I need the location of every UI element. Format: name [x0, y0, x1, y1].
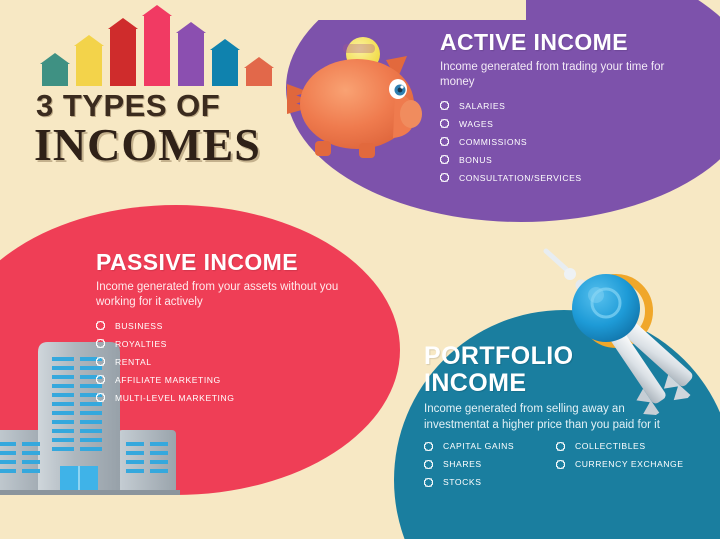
active-income-blob-clip	[286, 0, 526, 20]
list-item-label: BUSINESS	[115, 321, 163, 331]
list-item: ROYALTIES	[96, 339, 356, 349]
bar-orange	[246, 57, 272, 86]
portfolio-income-heading: PORTFOLIO INCOME	[424, 343, 684, 397]
cog-bullet-icon	[556, 442, 565, 451]
cog-bullet-icon	[424, 478, 433, 487]
bar-yellow	[76, 35, 102, 86]
portfolio-income-lists: CAPITAL GAINSSHARESSTOCKS COLLECTIBLESCU…	[424, 433, 684, 495]
cog-bullet-icon	[424, 460, 433, 469]
bar-chart-graphic	[42, 8, 290, 86]
list-item: BONUS	[440, 155, 690, 165]
list-item: STOCKS	[424, 477, 540, 487]
list-item: WAGES	[440, 119, 690, 129]
list-item-label: RENTAL	[115, 357, 152, 367]
list-item: AFFILIATE MARKETING	[96, 375, 356, 385]
passive-income-panel: PASSIVE INCOME Income generated from you…	[96, 250, 356, 411]
list-item-label: WAGES	[459, 119, 493, 129]
bar-purple	[178, 22, 204, 86]
list-item-label: CONSULTATION/SERVICES	[459, 173, 582, 183]
list-item-label: BONUS	[459, 155, 492, 165]
cog-bullet-icon	[96, 321, 105, 330]
list-item: BUSINESS	[96, 321, 356, 331]
cog-bullet-icon	[96, 375, 105, 384]
cog-bullet-icon	[556, 460, 565, 469]
cog-bullet-icon	[440, 137, 449, 146]
infographic-canvas: 3 TYPES OF INCOMES ACTIVE INCOME Income …	[0, 0, 720, 539]
list-item-label: CAPITAL GAINS	[443, 441, 514, 451]
cog-bullet-icon	[96, 339, 105, 348]
passive-income-description: Income generated from your assets withou…	[96, 280, 356, 311]
list-item: CAPITAL GAINS	[424, 441, 540, 451]
bar-teal	[42, 53, 68, 86]
list-item: SHARES	[424, 459, 540, 469]
list-item: MULTI-LEVEL MARKETING	[96, 393, 356, 403]
cog-bullet-icon	[440, 119, 449, 128]
list-item: COLLECTIBLES	[556, 441, 684, 451]
list-item-label: AFFILIATE MARKETING	[115, 375, 221, 385]
list-item-label: MULTI-LEVEL MARKETING	[115, 393, 234, 403]
header-logo: 3 TYPES OF INCOMES	[30, 8, 290, 171]
list-item-label: COMMISSIONS	[459, 137, 527, 147]
list-item: RENTAL	[96, 357, 356, 367]
cog-bullet-icon	[96, 393, 105, 402]
list-item: CONSULTATION/SERVICES	[440, 173, 690, 183]
page-title-line2: INCOMES	[34, 118, 290, 171]
list-item-label: STOCKS	[443, 477, 481, 487]
list-item-label: CURRENCY EXCHANGE	[575, 459, 684, 469]
cog-bullet-icon	[440, 101, 449, 110]
piggy-bank-icon	[283, 22, 433, 182]
cog-bullet-icon	[424, 442, 433, 451]
active-income-panel: ACTIVE INCOME Income generated from trad…	[440, 30, 690, 191]
active-income-description: Income generated from trading your time …	[440, 60, 690, 91]
portfolio-income-list-left: CAPITAL GAINSSHARESSTOCKS	[424, 441, 540, 495]
cog-bullet-icon	[96, 357, 105, 366]
cog-bullet-icon	[440, 155, 449, 164]
list-item: COMMISSIONS	[440, 137, 690, 147]
list-item-label: SALARIES	[459, 101, 505, 111]
list-item: CURRENCY EXCHANGE	[556, 459, 684, 469]
portfolio-income-heading-line2: INCOME	[424, 370, 684, 397]
bar-blue	[212, 39, 238, 86]
cog-bullet-icon	[440, 173, 449, 182]
list-item-label: ROYALTIES	[115, 339, 167, 349]
list-item-label: COLLECTIBLES	[575, 441, 646, 451]
bar-red	[110, 18, 136, 86]
portfolio-income-list-right: COLLECTIBLESCURRENCY EXCHANGE	[556, 441, 684, 495]
passive-income-heading: PASSIVE INCOME	[96, 250, 356, 275]
portfolio-income-heading-line1: PORTFOLIO	[424, 343, 684, 370]
active-income-heading: ACTIVE INCOME	[440, 30, 690, 55]
portfolio-income-description: Income generated from selling away an in…	[424, 402, 684, 433]
list-item-label: SHARES	[443, 459, 482, 469]
active-income-list: SALARIESWAGESCOMMISSIONSBONUSCONSULTATIO…	[440, 101, 690, 183]
list-item: SALARIES	[440, 101, 690, 111]
portfolio-income-panel: PORTFOLIO INCOME Income generated from s…	[424, 343, 684, 495]
bar-pink	[144, 5, 170, 86]
passive-income-list: BUSINESSROYALTIESRENTALAFFILIATE MARKETI…	[96, 321, 356, 403]
